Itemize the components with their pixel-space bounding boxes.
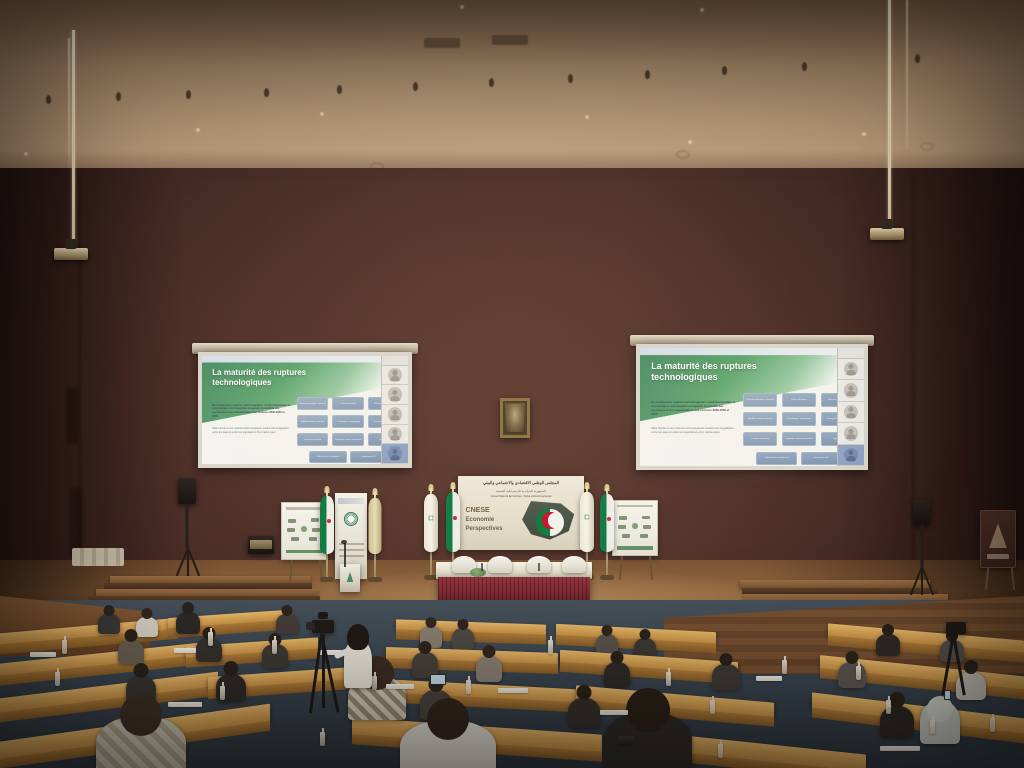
attendee-head	[182, 602, 194, 614]
ceiling-fixture-pole-right	[888, 0, 891, 228]
person-avatar-icon	[844, 405, 858, 419]
attendee-foreground-right	[920, 700, 960, 744]
backdrop-french-line: Conseil National Economique, Social et E…	[458, 495, 584, 498]
backdrop-wordmark: CNESE Economie Perspectives	[466, 506, 503, 535]
poster-node	[619, 516, 627, 520]
poster-node	[643, 525, 651, 529]
slide-box: Imprimantes 3D	[801, 452, 842, 465]
video-camera-lens	[306, 622, 315, 630]
video-participant-tile-active[interactable]	[382, 444, 408, 464]
cnese-backdrop-banner: المجلس الوطني الاقتصادي والاجتماعي والبي…	[458, 476, 584, 550]
attendee-head	[882, 624, 894, 636]
attendee-head	[427, 698, 469, 740]
stacked-chairs	[72, 548, 124, 566]
water-bottle	[666, 672, 671, 686]
institution-flag-icon	[369, 498, 382, 554]
attendee	[118, 640, 144, 664]
stage-step	[740, 580, 930, 588]
head-table-chair	[562, 556, 586, 573]
slide-box: Logistique urbaine mutualisée	[782, 432, 816, 446]
ceiling-vent	[424, 38, 460, 48]
slide-box: Voiture électrique	[332, 397, 364, 410]
ceiling-downlight	[320, 112, 324, 116]
video-participant-tile[interactable]	[838, 380, 864, 401]
paper-document	[174, 648, 196, 653]
algeria-flag-icon	[446, 492, 460, 552]
camera-operator-head	[347, 624, 369, 650]
backdrop-word-economie: Economie	[466, 516, 503, 525]
floor-standing-sign	[980, 510, 1016, 568]
video-participant-tile[interactable]	[838, 359, 864, 380]
slide-body-plain-right: Mais l'accès à ces ruptures technologiqu…	[651, 426, 736, 434]
ceiling-downlight	[862, 132, 866, 136]
poster-center-node	[632, 523, 639, 529]
slide-box: Télétravail et e-commerce	[756, 452, 797, 465]
microphone-stand	[344, 543, 346, 567]
person-avatar-icon	[388, 368, 402, 382]
backdrop-arabic-primary: المجلس الوطني الاقتصادي والاجتماعي والبي…	[458, 480, 584, 485]
attendee-head	[125, 629, 138, 642]
attendee-head	[282, 605, 293, 616]
algeria-flag-icon	[600, 494, 614, 552]
ceiling-fixture-pole-left	[72, 30, 75, 248]
person-avatar-icon	[844, 426, 858, 440]
slide-box: Mobilité comme un service	[743, 412, 777, 426]
ceiling-sprinkler	[413, 82, 418, 91]
person-avatar-icon	[388, 407, 402, 421]
poster-node	[291, 537, 299, 541]
attendee-head	[104, 605, 115, 616]
sign-pictogram-icon	[989, 523, 1007, 548]
poster-node	[618, 525, 626, 529]
tripod-leg	[322, 634, 325, 708]
projection-screen-left: La maturité des ruptures technologiques …	[198, 352, 412, 468]
person-avatar-icon	[844, 448, 858, 462]
video-camera-body-right	[946, 622, 966, 634]
paper-document	[30, 652, 56, 657]
attendee-head	[458, 619, 469, 630]
ceiling-vent	[492, 35, 528, 45]
poster-diagram	[287, 515, 320, 543]
attendee	[476, 656, 502, 682]
water-bottle	[62, 640, 67, 654]
attendee-foreground-left	[96, 716, 186, 768]
ceiling-sprinkler	[568, 74, 573, 83]
podium	[340, 564, 360, 592]
water-bottle	[548, 640, 553, 654]
attendee-head	[483, 645, 496, 658]
slide-box-row: Télétravail et e-commerce Imprimantes 3D	[309, 451, 387, 463]
ceiling-downlight	[196, 128, 200, 132]
poster-footer-bar	[286, 550, 321, 554]
poster-node	[640, 534, 648, 538]
attendee-head	[889, 692, 905, 708]
person-avatar-icon	[388, 446, 402, 460]
head-table-skirt	[438, 577, 590, 602]
video-participant-panel-right[interactable]	[837, 348, 864, 466]
ceiling-sprinkler	[489, 78, 494, 87]
video-participant-tile[interactable]	[382, 366, 408, 386]
table-floral-arrangement	[470, 568, 486, 577]
pa-speaker-tripod-right	[913, 525, 930, 593]
video-participant-tile[interactable]	[382, 405, 408, 425]
tripod-leg	[921, 567, 923, 595]
water-bottle	[930, 720, 935, 734]
video-panel-header	[838, 348, 864, 359]
sign-text-bar	[987, 554, 1009, 559]
slide-title-line2: technologiques	[212, 378, 340, 388]
smartphone	[944, 690, 951, 700]
slide-box: Véhicule autonome / connecté	[297, 397, 329, 410]
video-participant-tile[interactable]	[382, 385, 408, 405]
slide-box: Véhicule autonome / connecté	[743, 393, 777, 407]
institution-flag-icon	[580, 492, 594, 552]
pa-speaker-tripod-left	[178, 504, 196, 574]
attendee	[604, 662, 630, 688]
video-participant-tile-active[interactable]	[838, 445, 864, 466]
slide-title-left: La maturité des ruptures technologiques	[212, 368, 340, 388]
attendee	[276, 614, 298, 634]
poster-node	[309, 537, 317, 541]
ceiling-downlight	[700, 8, 704, 12]
water-bottle	[782, 660, 787, 674]
ceiling-sprinkler	[915, 54, 920, 63]
water-bottle	[272, 640, 277, 654]
attendee-head	[426, 617, 437, 628]
table-microphone	[538, 563, 540, 571]
attendee-head	[224, 661, 239, 676]
attendee	[452, 628, 474, 650]
slide-box-row: Télétravail et e-commerce Imprimantes 3D	[756, 452, 841, 465]
table-microphone	[481, 563, 483, 571]
flag-base	[368, 577, 382, 582]
pa-speaker-left	[178, 478, 196, 504]
attendee-head	[611, 651, 624, 664]
poster-title-bar	[286, 507, 323, 510]
attendee	[838, 662, 866, 688]
person-avatar-icon	[388, 427, 402, 441]
slide-title-right: La maturité des ruptures technologiques	[651, 361, 790, 384]
attendee-head	[720, 653, 733, 666]
backdrop-word-perspectives: Perspectives	[466, 525, 503, 534]
stage-step	[96, 589, 318, 596]
water-bottle	[856, 666, 861, 680]
slide-box: Logistique urbaine mutualisée	[332, 433, 364, 446]
attendee-head	[640, 629, 651, 640]
slide-box: Livraison par drone	[743, 432, 777, 446]
algeria-flag-icon	[320, 496, 334, 554]
attendee	[176, 612, 200, 634]
poster-board-right	[612, 500, 658, 556]
paper-document	[880, 746, 920, 751]
poster-diagram	[618, 513, 651, 540]
tripod-column	[186, 504, 189, 548]
poster-node	[288, 519, 296, 523]
institution-flag-icon	[424, 494, 438, 552]
attendee-head	[142, 608, 153, 619]
video-panel-header	[382, 356, 408, 366]
paper-document	[756, 676, 782, 681]
tripod-leg	[187, 548, 189, 576]
attendee-head	[577, 685, 592, 700]
water-bottle	[710, 700, 715, 714]
slide-box: Mobilité comme un service	[297, 415, 329, 428]
slide-topbar	[202, 356, 408, 364]
ceiling-sprinkler	[802, 62, 807, 71]
attendee	[712, 664, 740, 690]
slide-box: Livraison par drone	[297, 433, 329, 446]
poster-node	[642, 516, 650, 520]
video-camera-viewfinder	[318, 612, 328, 619]
poster-center-node	[301, 526, 308, 532]
attendee-head	[120, 694, 162, 736]
stage-monitor-grille	[250, 540, 272, 549]
laptop	[618, 736, 634, 746]
video-camera-body	[312, 620, 334, 633]
slide-body-bold-right: De nombreuses ruptures technologiques, c…	[651, 400, 736, 416]
attendee-head	[134, 663, 149, 678]
attendee	[568, 698, 600, 728]
framed-picture	[500, 398, 530, 438]
slide-box: Covoiturage / autopartage	[332, 415, 364, 428]
person-avatar-icon	[844, 362, 858, 376]
water-bottle	[372, 676, 377, 690]
flag-right-algeria	[598, 488, 616, 580]
flag-left-algeria	[318, 490, 336, 582]
flag-left-gold	[366, 492, 384, 582]
ceiling-sprinkler	[186, 90, 191, 99]
slide-right: La maturité des ruptures technologiques …	[640, 348, 864, 466]
rollup-header-bar	[338, 498, 365, 504]
person-avatar-icon	[388, 387, 402, 401]
ceiling-sprinkler	[645, 70, 650, 79]
attendee-head	[602, 625, 613, 636]
slide-title-line2: technologiques	[651, 372, 790, 383]
ceiling-groove	[906, 0, 908, 150]
screen-surface-left: La maturité des ruptures technologiques …	[198, 352, 412, 468]
head-table-chair	[488, 556, 512, 573]
ceiling-sprinkler	[116, 92, 121, 101]
slide-body-bold-left: De nombreuses ruptures technologiques, c…	[212, 404, 290, 419]
attendee	[876, 634, 900, 656]
ceiling-downlight	[585, 115, 589, 119]
water-bottle	[990, 718, 995, 732]
backdrop-acronym: CNESE	[466, 506, 503, 517]
slide-box: Télétravail et e-commerce	[309, 451, 347, 463]
paper-document	[386, 684, 414, 689]
attendee-head	[964, 660, 978, 674]
conference-hall-photo: La maturité des ruptures technologiques …	[0, 0, 1024, 768]
slide-box: Covoiturage / autopartage	[782, 412, 816, 426]
paper-document	[168, 702, 202, 707]
slide-left: La maturité des ruptures technologiques …	[202, 356, 408, 464]
attendee-foreground-center	[400, 720, 496, 768]
stage-step	[110, 576, 310, 583]
video-participant-tile[interactable]	[838, 423, 864, 444]
microphone-head	[341, 540, 347, 544]
projection-screen-right: La maturité des ruptures technologiques …	[636, 344, 868, 470]
flag-base	[600, 575, 614, 580]
attendee	[98, 614, 120, 634]
paper-document	[498, 688, 528, 693]
attendee-head	[419, 641, 432, 654]
paper-document	[600, 710, 628, 715]
video-participant-tile[interactable]	[838, 402, 864, 423]
screen-surface-right: La maturité des ruptures technologiques …	[636, 344, 868, 470]
flag-base	[320, 577, 334, 582]
person-avatar-icon	[844, 383, 858, 397]
water-bottle	[886, 700, 891, 714]
slide-body-plain-left: Mais l'accès à ces ruptures technologiqu…	[212, 427, 290, 435]
ceiling-downlight	[688, 140, 692, 144]
ceiling-sprinkler	[722, 66, 727, 75]
ceiling-sprinkler	[46, 95, 51, 104]
cnese-logo-icon	[344, 512, 358, 526]
crescent-star-icon	[542, 512, 558, 528]
poster-title-bar	[617, 505, 654, 508]
pa-speaker-right	[913, 500, 930, 525]
smartphone	[430, 674, 446, 685]
slide-title-line1: La maturité des ruptures	[651, 361, 790, 372]
framed-picture-art	[506, 404, 524, 432]
attendee-head	[626, 688, 670, 732]
water-bottle	[466, 680, 471, 694]
ceiling-sprinkler	[264, 88, 269, 97]
poster-node	[287, 528, 295, 532]
slide-title-line1: La maturité des ruptures	[212, 368, 340, 378]
tripod-column	[920, 525, 923, 567]
podium-logo-icon	[347, 572, 354, 583]
water-bottle	[208, 632, 213, 646]
backdrop-arabic-secondary: الجمهورية الجزائرية الديمقراطية الشعبية	[458, 489, 584, 493]
water-bottle	[220, 686, 225, 700]
slide-box: Voiture électrique	[782, 393, 816, 407]
ceiling-downlight	[460, 5, 464, 9]
water-bottle	[320, 732, 325, 746]
poster-node	[622, 534, 630, 538]
ceiling-light-fixture-right	[870, 228, 904, 240]
ceiling-sprinkler	[337, 85, 342, 94]
poster-footer-bar	[617, 546, 652, 550]
video-participant-tile[interactable]	[382, 425, 408, 445]
water-bottle	[718, 744, 723, 758]
ceiling-light-fixture-left	[54, 248, 88, 260]
water-bottle	[55, 672, 60, 686]
slide-topbar	[640, 348, 864, 356]
video-participant-panel-left[interactable]	[381, 356, 408, 464]
attendee	[136, 617, 158, 637]
